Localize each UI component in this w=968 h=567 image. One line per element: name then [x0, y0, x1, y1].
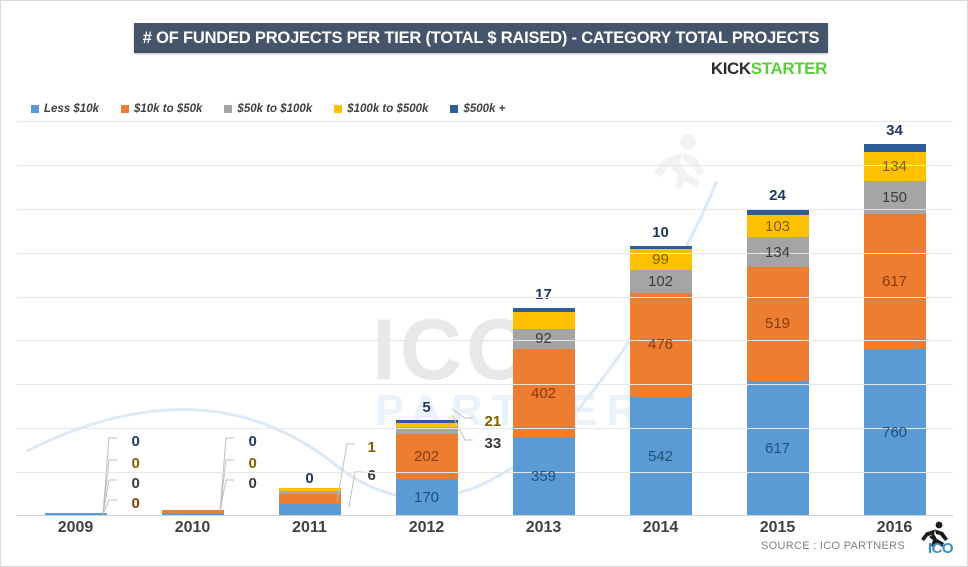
bar-value-label: 359 [531, 469, 556, 484]
legend-swatch-icon [450, 105, 458, 113]
bar-callout-label: 0 [132, 455, 140, 472]
gridline [17, 121, 953, 122]
bar-value-label: 92 [535, 331, 552, 346]
legend-swatch-icon [31, 105, 39, 113]
page-title: # OF FUNDED PROJECTS PER TIER (TOTAL $ R… [143, 29, 820, 48]
gridline [17, 209, 953, 210]
bar-column[interactable]: 202170 [396, 420, 458, 516]
legend-label: Less $10k [44, 103, 99, 115]
bar-value-label: 760 [882, 425, 907, 440]
legend-item[interactable]: $500k + [450, 103, 505, 115]
gridline [17, 165, 953, 166]
bar-segment[interactable]: 103 [747, 215, 809, 238]
chart-legend: Less $10k$10k to $50k$50k to $100k$100k … [31, 103, 505, 115]
bar-segment[interactable]: 617 [747, 381, 809, 516]
gridline [17, 297, 953, 298]
bar-segment[interactable]: 359 [513, 437, 575, 516]
bar-top-label: 10 [630, 224, 692, 241]
bar-callout-label: 6 [368, 467, 376, 484]
bar-segment[interactable]: 134 [864, 152, 926, 181]
bar-segment[interactable]: 102 [630, 270, 692, 292]
x-axis-label: 2013 [485, 519, 602, 537]
legend-item[interactable]: $100k to $500k [334, 103, 428, 115]
bar-value-label: 134 [882, 159, 907, 174]
kickstarter-logo-starter: STARTER [751, 59, 827, 78]
bar-top-label: 34 [864, 122, 926, 139]
bar-value-label: 542 [648, 449, 673, 464]
bar-segment[interactable]: 476 [630, 293, 692, 397]
legend-label: $50k to $100k [237, 103, 312, 115]
bar-callout-label: 0 [249, 475, 257, 492]
x-axis-label: 2015 [719, 519, 836, 537]
bar-callout-label: 0 [249, 455, 257, 472]
bar-top-label: 5 [396, 399, 458, 416]
bar-callout-label: 0 [132, 475, 140, 492]
x-axis-label: 2009 [17, 519, 134, 537]
bar-value-label: 102 [648, 274, 673, 289]
kickstarter-logo: KICKSTARTER [711, 59, 827, 79]
legend-item[interactable]: Less $10k [31, 103, 99, 115]
bar-segment[interactable]: 617 [864, 214, 926, 349]
ico-logo-word: ICO [928, 540, 953, 557]
x-axis-label: 2012 [368, 519, 485, 537]
bar-top-label: 24 [747, 187, 809, 204]
plot-area: ICO PARTNERS 020217059240235917991024765… [17, 121, 953, 516]
bar-segment[interactable] [513, 312, 575, 329]
bar-value-label: 99 [652, 252, 669, 267]
bar-value-label: 202 [414, 449, 439, 464]
bar-callout-label: 0 [132, 495, 140, 512]
bar-callout-label: 0 [132, 433, 140, 450]
x-axis-label: 2014 [602, 519, 719, 537]
chart-canvas: # OF FUNDED PROJECTS PER TIER (TOTAL $ R… [0, 0, 968, 567]
bar-segment[interactable]: 170 [396, 479, 458, 516]
gridline [17, 253, 953, 254]
bar-segment[interactable] [279, 494, 341, 504]
axis-baseline [17, 515, 953, 516]
gridline [17, 384, 953, 385]
bar-segment[interactable]: 92 [513, 329, 575, 349]
kickstarter-logo-kick: KICK [711, 59, 751, 78]
callout-leader-lines [17, 121, 953, 516]
x-axis-label: 2011 [251, 519, 368, 537]
legend-label: $500k + [463, 103, 505, 115]
bar-column[interactable] [279, 488, 341, 516]
gridline [17, 340, 953, 341]
legend-swatch-icon [121, 105, 129, 113]
legend-item[interactable]: $10k to $50k [121, 103, 202, 115]
bar-value-label: 134 [765, 245, 790, 260]
legend-label: $100k to $500k [347, 103, 428, 115]
bar-segment[interactable]: 519 [747, 267, 809, 381]
gridline [17, 428, 953, 429]
bar-segment[interactable] [864, 144, 926, 151]
bar-value-label: 150 [882, 190, 907, 205]
bar-value-label: 617 [882, 274, 907, 289]
bar-callout-label: 0 [249, 433, 257, 450]
gridline [17, 472, 953, 473]
chart-title-bar: # OF FUNDED PROJECTS PER TIER (TOTAL $ R… [134, 23, 828, 53]
x-axis-label: 2010 [134, 519, 251, 537]
bar-value-label: 617 [765, 441, 790, 456]
bar-top-label: 17 [513, 286, 575, 303]
legend-swatch-icon [224, 105, 232, 113]
bar-segment[interactable]: 402 [513, 349, 575, 437]
bar-column[interactable]: 103134519617 [747, 209, 809, 516]
bar-segment[interactable]: 760 [864, 349, 926, 516]
bar-column[interactable]: 99102476542 [630, 246, 692, 516]
source-note: SOURCE : ICO PARTNERS [761, 540, 905, 552]
bar-value-label: 402 [531, 386, 556, 401]
bar-callout-label: 1 [368, 439, 376, 456]
legend-item[interactable]: $50k to $100k [224, 103, 312, 115]
legend-label: $10k to $50k [134, 103, 202, 115]
bar-value-label: 476 [648, 337, 673, 352]
bar-value-label: 170 [414, 490, 439, 505]
bar-value-label: 519 [765, 316, 790, 331]
bar-group: 0202170592402359179910247654210103134519… [17, 121, 953, 516]
bar-segment[interactable]: 542 [630, 397, 692, 516]
bar-callout-label: 33 [485, 435, 502, 452]
bar-column[interactable]: 134150617760 [864, 144, 926, 516]
legend-swatch-icon [334, 105, 342, 113]
bar-value-label: 103 [765, 219, 790, 234]
